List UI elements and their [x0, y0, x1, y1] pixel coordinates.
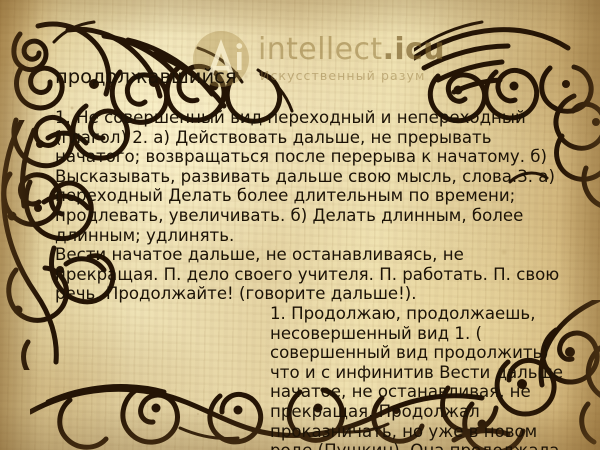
parchment-fibre-texture [0, 0, 600, 450]
slide-canvas: intellect.icu Искусственный разум продол… [0, 0, 600, 450]
